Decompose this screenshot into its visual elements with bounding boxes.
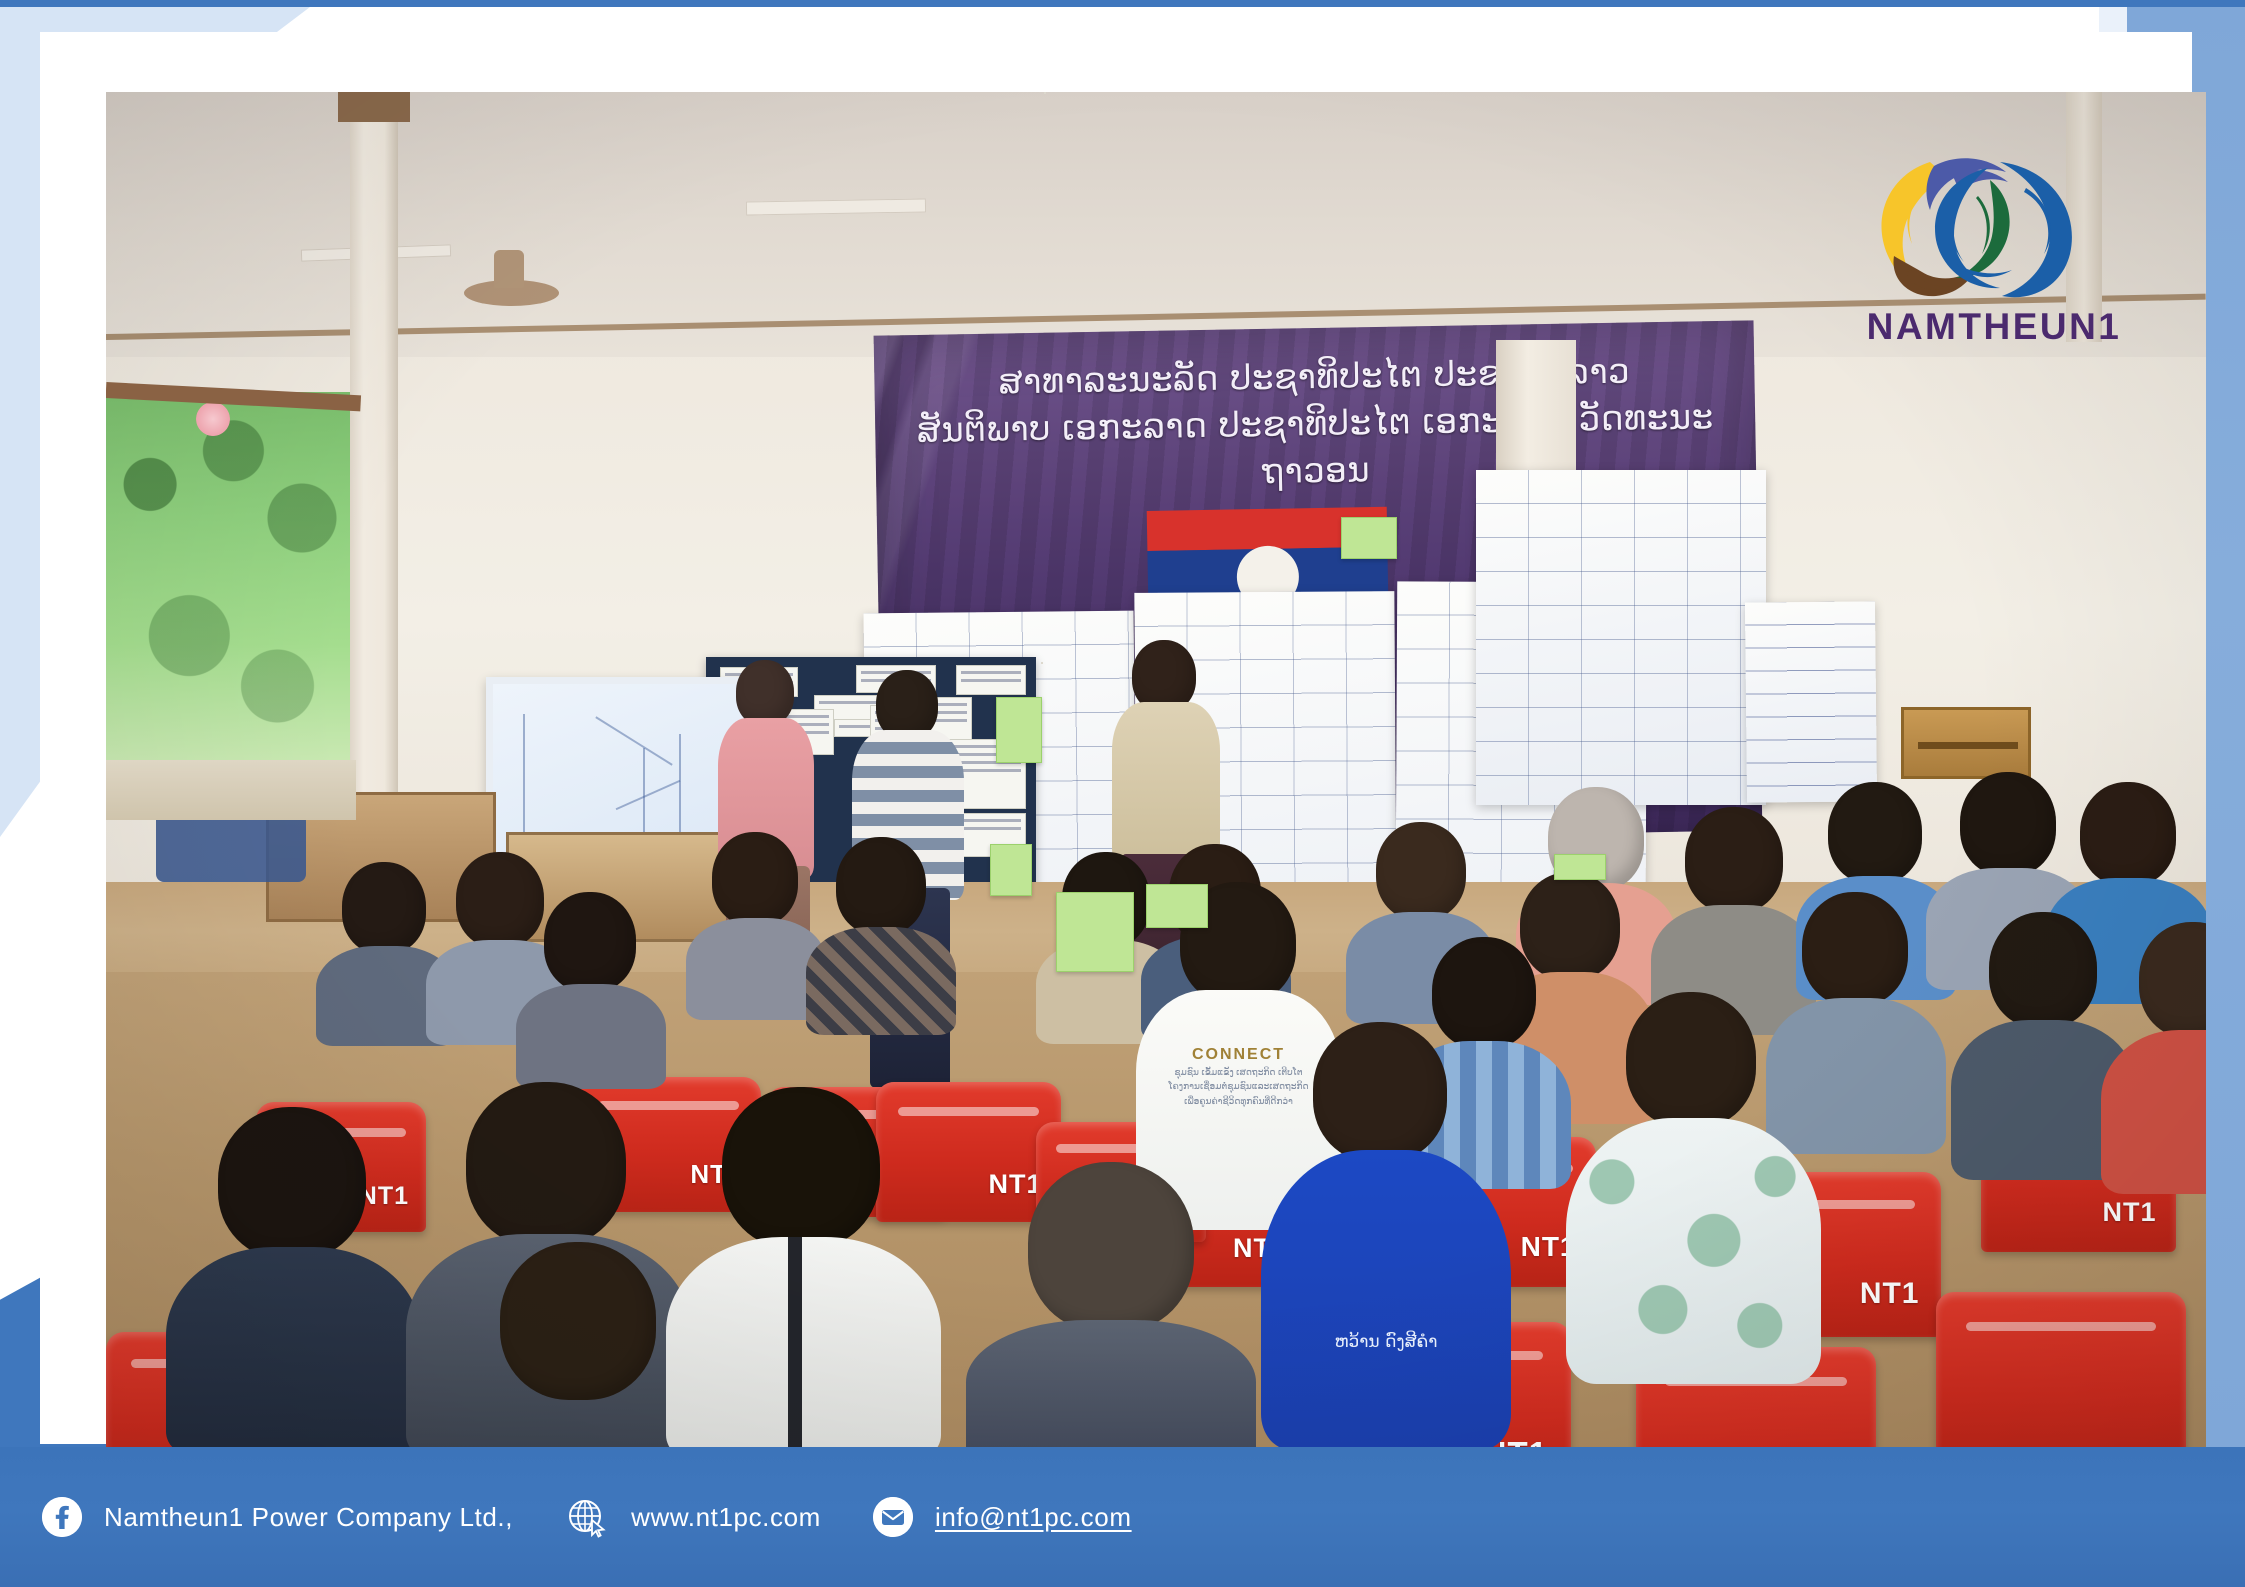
- seated-attendee: [516, 892, 666, 1082]
- footer-bar: Namtheun1 Power Company Ltd., www.nt1pc.…: [0, 1447, 2245, 1587]
- red-plastic-chair: [1936, 1292, 2186, 1447]
- wooden-mailbox: [1901, 707, 2031, 779]
- green-hillside-view: [106, 392, 351, 812]
- sticky-note: [1341, 517, 1397, 559]
- brand-wordmark: NAMTHEUN1: [1844, 306, 2144, 348]
- concrete-column: [350, 92, 398, 832]
- flipchart-sheet: [1476, 470, 1766, 805]
- poster-page: ສາທາລະນະລັດ ປະຊາທິປະໄຕ ປະຊາຊົນລາວ ສັນຕິພ…: [0, 0, 2245, 1587]
- globe-cursor-icon[interactable]: [565, 1495, 609, 1539]
- footer-email-label[interactable]: info@nt1pc.com: [935, 1502, 1132, 1533]
- seated-attendee: [2101, 922, 2206, 1192]
- fluorescent-light-icon: [746, 198, 926, 215]
- footer-facebook[interactable]: Namtheun1 Power Company Ltd.,: [42, 1447, 513, 1587]
- ceiling-fan-icon: [464, 250, 559, 308]
- meeting-photograph: ສາທາລະນະລັດ ປະຊາທິປະໄຕ ປະຊາຊົນລາວ ສັນຕິພ…: [106, 92, 2206, 1447]
- footer-website-label: www.nt1pc.com: [631, 1502, 821, 1533]
- namtheun1-swirl-logo-icon: [1860, 144, 2100, 304]
- seated-attendee: [966, 1162, 1256, 1447]
- sticky-note: [1146, 884, 1208, 928]
- sticky-note: [1056, 892, 1134, 972]
- jersey-print: ຫວ້ານ ດົງສີຄໍາ: [1261, 1332, 1511, 1352]
- seated-attendee: [1566, 992, 1821, 1382]
- sticky-note: [996, 697, 1042, 763]
- photo-frame: ສາທາລະນະລັດ ປະຊາທິປະໄຕ ປະຊາຊົນລາວ ສັນຕິພ…: [40, 32, 2192, 1444]
- seated-attendee: [806, 837, 956, 1032]
- sticky-note: [1554, 854, 1606, 880]
- seated-attendee: [166, 1107, 421, 1447]
- seated-attendee: [686, 832, 826, 1017]
- chair-brand-label: NT1: [2102, 1197, 2156, 1228]
- flipchart-sheet-handwritten: [1745, 601, 1877, 802]
- footer-website[interactable]: www.nt1pc.com: [565, 1447, 821, 1587]
- seated-attendee-blue-jersey: ຫວ້ານ ດົງສີຄໍາ: [1261, 1022, 1511, 1447]
- footer-facebook-label: Namtheun1 Power Company Ltd.,: [104, 1502, 513, 1533]
- facebook-icon[interactable]: [42, 1497, 82, 1537]
- seated-attendee: [446, 1242, 716, 1447]
- footer-email[interactable]: info@nt1pc.com: [873, 1447, 1132, 1587]
- sticky-note: [990, 844, 1032, 896]
- brand-logo: NAMTHEUN1: [1844, 144, 2144, 374]
- outdoor-ground: [106, 760, 356, 820]
- chair-brand-label: NT1: [1860, 1277, 1920, 1311]
- top-accent-strip: [0, 0, 2245, 7]
- envelope-icon[interactable]: [873, 1497, 913, 1537]
- flowering-plant: [196, 402, 230, 436]
